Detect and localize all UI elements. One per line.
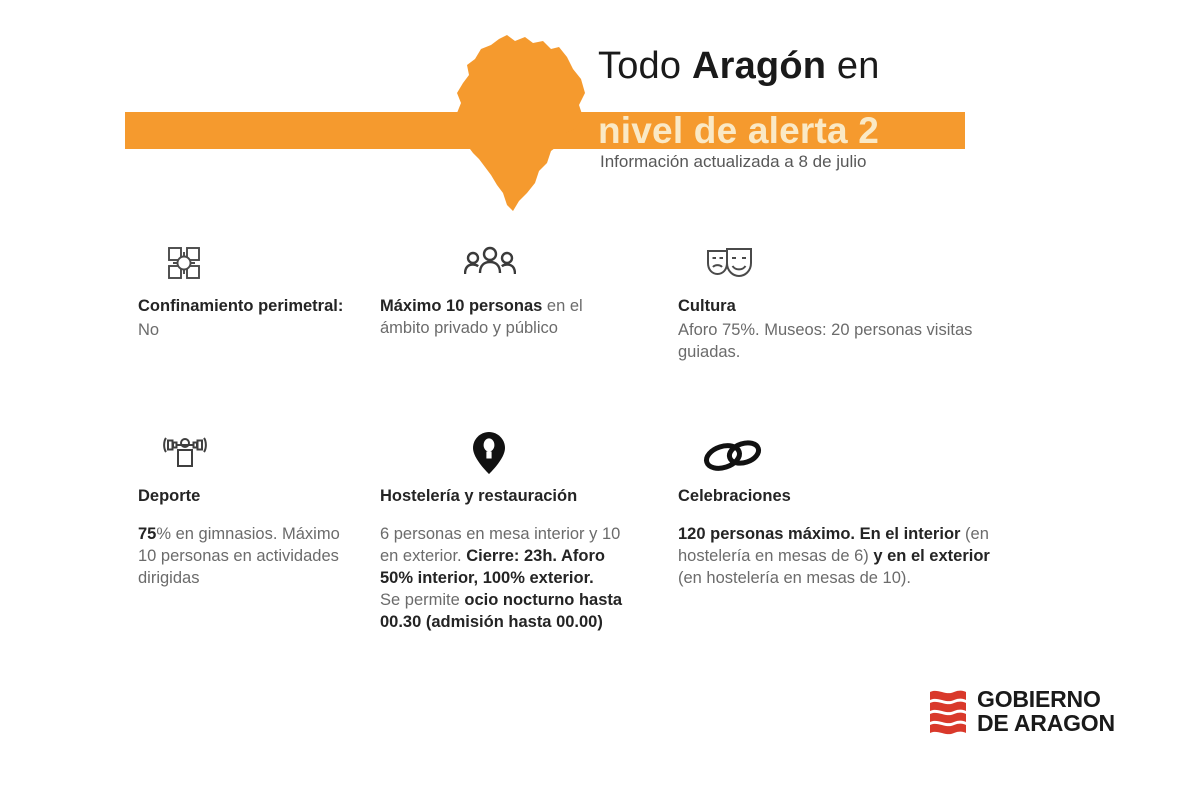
logo-line-2: DE ARAGON (977, 712, 1115, 736)
title-prefix: Todo (598, 45, 692, 87)
gobierno-de-aragon-logo: GOBIERNO DE ARAGON (928, 688, 1115, 736)
logo-text: GOBIERNO DE ARAGON (977, 688, 1115, 736)
item-heading: Hostelería y restauración (380, 486, 642, 508)
title-suffix: en (826, 45, 879, 87)
logo-line-1: GOBIERNO (977, 688, 1115, 712)
title-strong: Aragón (692, 45, 826, 87)
item-body: 75% en gimnasios. Máximo 10 personas en … (138, 524, 353, 590)
aragon-map-silhouette-icon (455, 33, 587, 215)
page-title: Todo Aragón en (598, 45, 880, 88)
item-body: Máximo 10 personas en el ámbito privado … (380, 296, 610, 340)
item-heading: Cultura (678, 296, 978, 318)
people-group-icon (464, 240, 516, 286)
alert-level-title: nivel de alerta 2 (598, 110, 879, 152)
item-confinamiento-perimetral: Confinamiento perimetral: No (138, 240, 348, 342)
item-hosteleria-restauracion: Hostelería y restauración 6 personas en … (380, 430, 642, 633)
item-body: 120 personas máximo. En el interior (en … (678, 524, 993, 590)
item-celebraciones: Celebraciones 120 personas máximo. En el… (678, 430, 993, 590)
item-heading: Confinamiento perimetral: (138, 296, 348, 318)
perimeter-boundary-icon (164, 240, 204, 286)
item-heading: Celebraciones (678, 486, 993, 508)
wedding-rings-icon (700, 430, 764, 476)
item-deporte: Deporte 75% en gimnasios. Máximo 10 pers… (138, 430, 353, 590)
item-cultura: Cultura Aforo 75%. Museos: 20 personas v… (678, 240, 978, 364)
theater-masks-icon (705, 240, 755, 286)
header: Todo Aragón en nivel de alerta 2 Informa… (0, 0, 1200, 215)
update-subtitle: Información actualizada a 8 de julio (600, 152, 867, 172)
item-body: 6 personas en mesa interior y 10 en exte… (380, 524, 642, 634)
item-body: Aforo 75%. Museos: 20 personas visitas g… (678, 320, 978, 364)
item-heading: Deporte (138, 486, 353, 508)
gobierno-de-aragon-bars-icon (928, 689, 968, 735)
item-maximo-personas: Máximo 10 personas en el ámbito privado … (380, 240, 610, 340)
weightlifting-bench-icon (162, 430, 208, 476)
location-pin-icon (472, 430, 506, 476)
item-body: No (138, 320, 348, 342)
